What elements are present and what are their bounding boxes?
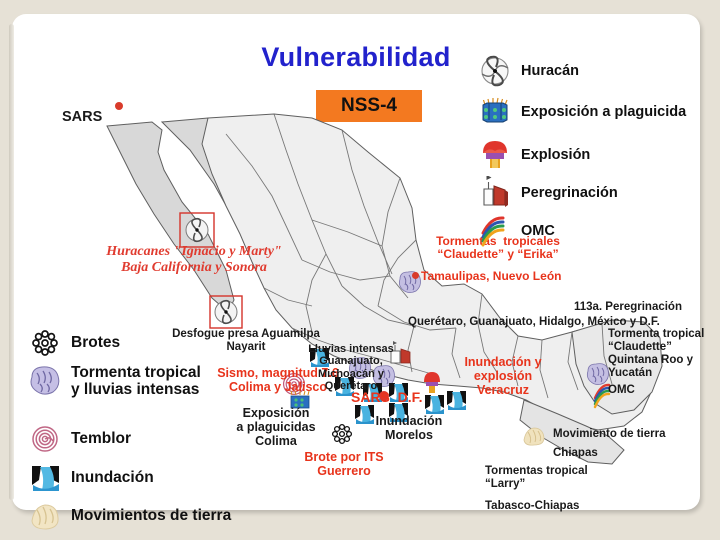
pilgrimage-icon	[478, 176, 512, 210]
sars-baja-dot	[115, 102, 123, 110]
pesticide-exposure-icon	[478, 95, 512, 129]
annotation-omc-cancun: OMC	[608, 384, 635, 397]
legend-label-tormenta-tropical: Tormenta tropical y lluvias intensas	[71, 364, 201, 399]
annotation-tormenta-claudette-qroo: Tormenta tropical “Claudette”	[608, 328, 704, 354]
legend-item-tormenta-tropical[interactable]: Tormenta tropical y lluvias intensas	[28, 364, 201, 399]
explosion-icon	[478, 138, 512, 172]
annotation-sars-df: SARS D.F.	[351, 390, 423, 406]
legend-item-explosion[interactable]: Explosión	[478, 138, 590, 172]
annotation-peregrinacion-estados: Querétaro, Guanajuato, Hidalgo, México y…	[408, 316, 660, 329]
map-icon-hurricane-baja-sur	[215, 301, 237, 324]
tropical-storm-icon	[28, 364, 62, 398]
annotation-exposicion-plaguicidas-colima: Exposición a plaguicidas Colima	[221, 406, 331, 448]
annotation-movimiento-tierra-chiapas: Movimiento de tierra	[553, 428, 665, 441]
annotation-brote-its-guerrero: Brote por ITS Guerrero	[284, 450, 404, 478]
annotation-hurricanes-ignacio-marty: Huracanes "Ignacio y Marty" Baja Califor…	[74, 244, 314, 275]
legend-item-temblor[interactable]: Temblor	[28, 422, 131, 456]
annotation-quintana-roo-yucatan: Quintana Roo y Yucatán	[608, 354, 693, 380]
legend-item-movimientos-tierra[interactable]: Movimientos de tierra	[28, 499, 231, 533]
map-icon-storm-quintana-roo	[587, 364, 608, 385]
slide-canvas: Vulnerabilidad NSS-4	[0, 0, 720, 540]
tamaulipas-dot	[412, 272, 419, 279]
slide-panel: Vulnerabilidad NSS-4	[12, 14, 700, 510]
map-icon-explosion-veracruz	[424, 372, 440, 393]
legend-item-exposicion-plaguicida[interactable]: Exposición a plaguicida	[478, 95, 686, 129]
map-icon-flood-veracruz-1	[425, 395, 444, 414]
legend-label-inundacion: Inundación	[71, 469, 154, 486]
legend-item-huracan[interactable]: Huracán	[478, 54, 579, 88]
page-title: Vulnerabilidad	[12, 42, 700, 73]
annotation-sars-baja-california: SARS	[62, 109, 102, 125]
annotation-peregrinacion-113a: 113a. Peregrinación	[432, 301, 682, 314]
legend-item-peregrinacion[interactable]: Peregrinación	[478, 176, 618, 210]
legend-label-exposicion-plaguicida: Exposición a plaguicida	[521, 104, 686, 120]
legend-item-inundacion[interactable]: Inundación	[28, 461, 154, 495]
map-icon-landslide-chiapas	[524, 428, 544, 445]
annotation-chiapas-label: Chiapas	[553, 447, 598, 460]
annotation-inundacion-morelos: Inundación Morelos	[354, 414, 464, 442]
legend-label-explosion: Explosión	[521, 147, 590, 163]
legend-label-temblor: Temblor	[71, 430, 131, 447]
annotation-tabasco-chiapas: Tabasco-Chiapas	[485, 500, 579, 513]
legend-label-omc: OMC	[521, 223, 555, 239]
legend-label-brotes: Brotes	[71, 334, 120, 351]
legend-item-brotes[interactable]: Brotes	[28, 326, 120, 360]
annotation-lluvias-intensas-bajio: Lluvias intensas Guanajuato, Michoacán y…	[291, 343, 411, 392]
annotation-tamaulipas-nuevo-leon: Tamaulipas, Nuevo León	[421, 270, 561, 283]
annotation-tormenta-larry: Tormentas tropical “Larry”	[485, 465, 588, 491]
earthquake-icon	[28, 422, 62, 456]
hurricane-icon	[478, 54, 512, 88]
map-icon-hurricane-sonora	[186, 219, 208, 242]
outbreak-icon	[28, 326, 62, 360]
map-icon-outbreak-guerrero	[333, 425, 352, 444]
flood-icon	[28, 461, 62, 495]
annotation-inundacion-explosion-veracruz: Inundación y explosión Veracruz	[450, 355, 556, 397]
legend-label-movimientos-tierra: Movimientos de tierra	[71, 507, 231, 524]
legend-item-omc[interactable]: OMC	[478, 214, 555, 248]
legend-label-peregrinacion: Peregrinación	[521, 185, 618, 201]
legend-label-huracan: Huracán	[521, 63, 579, 79]
landslide-icon	[28, 499, 62, 533]
omc-icon	[478, 214, 512, 248]
